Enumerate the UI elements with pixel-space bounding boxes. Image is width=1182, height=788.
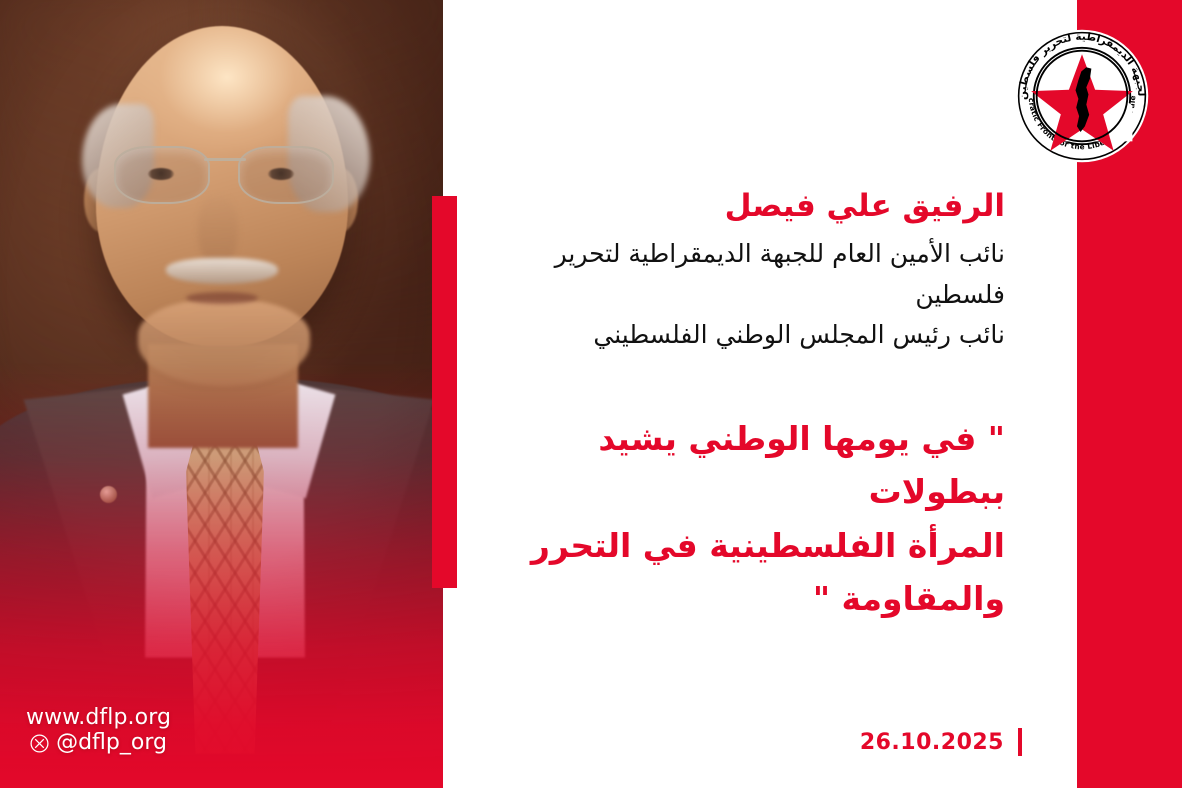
date-row: 26.10.2025 xyxy=(860,728,1022,756)
quote-line-2: المرأة الفلسطينية في التحرر xyxy=(460,519,1005,572)
text-content: الرفيق علي فيصل نائب الأمين العام للجبهة… xyxy=(460,186,1005,626)
person-name: الرفيق علي فيصل xyxy=(460,186,1005,226)
watermark: www.dflp.org @dflp_org xyxy=(26,706,171,756)
x-twitter-icon xyxy=(30,734,49,753)
person-role-line-1: نائب الأمين العام للجبهة الديمقراطية لتح… xyxy=(460,234,1005,315)
poster-canvas: www.dflp.org @dflp_org الرفيق علي فيصل ن… xyxy=(0,0,1182,788)
publication-date: 26.10.2025 xyxy=(860,730,1004,755)
quote-line-1: " في يومها الوطني يشيد ببطولات xyxy=(460,412,1005,519)
social-handle-row[interactable]: @dflp_org xyxy=(26,731,171,756)
dflp-logo[interactable]: الجبهة الديمقراطية لتحرير فلسطين Democra… xyxy=(1010,24,1154,168)
red-accent-bar xyxy=(432,196,457,588)
date-tick-mark xyxy=(1018,728,1022,756)
website-url[interactable]: www.dflp.org xyxy=(26,706,171,731)
quote-line-3: والمقاومة " xyxy=(460,572,1005,625)
quote-block: " في يومها الوطني يشيد ببطولات المرأة ال… xyxy=(460,412,1005,626)
social-handle: @dflp_org xyxy=(56,731,167,756)
person-role-line-2: نائب رئيس المجلس الوطني الفلسطيني xyxy=(460,315,1005,356)
portrait-red-gradient-overlay xyxy=(0,0,443,788)
dflp-emblem-icon: الجبهة الديمقراطية لتحرير فلسطين Democra… xyxy=(1010,24,1154,168)
portrait-photo xyxy=(0,0,443,788)
